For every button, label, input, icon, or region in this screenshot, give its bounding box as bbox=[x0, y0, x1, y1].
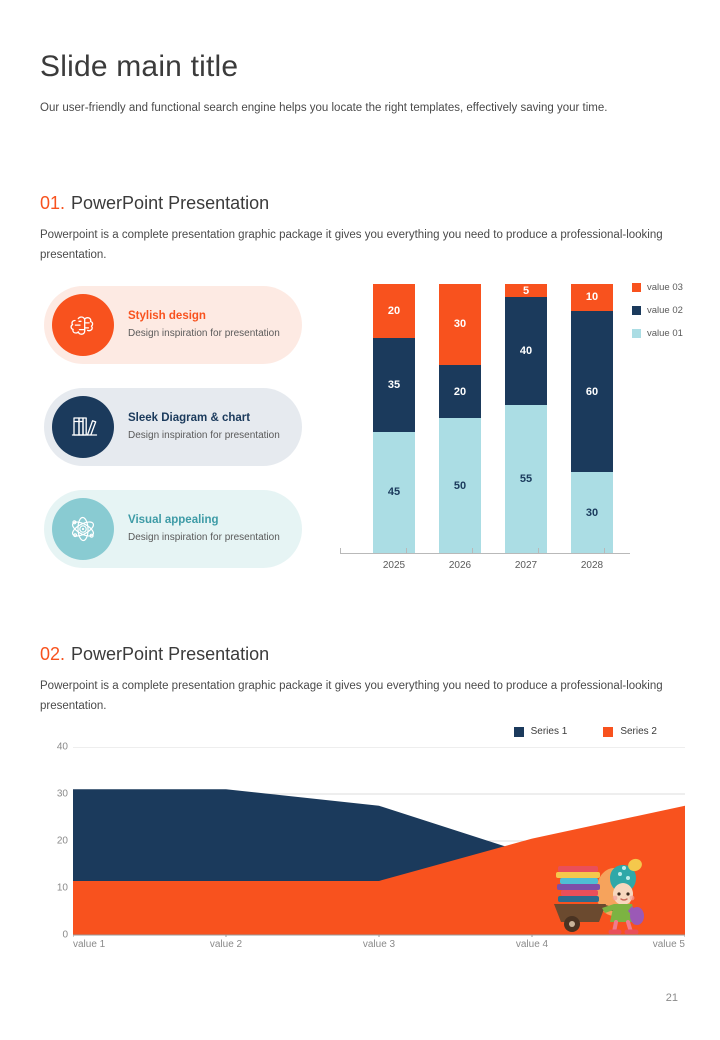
legend-item-series-2[interactable]: Series 2 bbox=[603, 726, 657, 737]
legend-label: Series 1 bbox=[531, 726, 568, 737]
bar-x-axis-line bbox=[340, 553, 630, 554]
feature-card-subtitle: Design inspiration for presentation bbox=[128, 327, 280, 342]
stacked-bar-chart: 20354530205054055106030 2025202620272028… bbox=[332, 276, 688, 576]
bar-segment-value-02: 40 bbox=[505, 297, 547, 405]
feature-card-visual-appealing[interactable]: Visual appealing Design inspiration for … bbox=[44, 490, 302, 568]
bar-segment-value-01: 30 bbox=[571, 472, 613, 553]
legend-item-series-1[interactable]: Series 1 bbox=[514, 726, 568, 737]
bar-segment-value-01: 55 bbox=[505, 405, 547, 553]
legend-swatch-icon bbox=[632, 306, 641, 315]
bar-segment-value-03: 20 bbox=[373, 284, 415, 338]
feature-card-text: Sleek Diagram & chart Design inspiration… bbox=[128, 411, 288, 443]
bar-segment-value-03: 10 bbox=[571, 284, 613, 311]
section-description-01: Powerpoint is a complete presentation gr… bbox=[40, 225, 680, 265]
area-x-label-value-2: value 2 bbox=[210, 939, 242, 950]
bar-x-label-2027: 2027 bbox=[505, 560, 547, 571]
legend-swatch-icon bbox=[514, 727, 524, 737]
girl-with-books-illustration bbox=[528, 844, 648, 934]
feature-card-stylish-design[interactable]: Stylish design Design inspiration for pr… bbox=[44, 286, 302, 364]
section-title-02: PowerPoint Presentation bbox=[71, 644, 269, 665]
legend-swatch-icon bbox=[632, 283, 641, 292]
bar-axis-tick bbox=[472, 548, 473, 554]
area-x-label-value-5: value 5 bbox=[653, 939, 685, 950]
area-x-label-value-1: value 1 bbox=[73, 939, 105, 950]
bar-x-axis-labels: 2025202620272028 bbox=[350, 560, 620, 580]
area-x-axis-labels: value 1value 2value 3value 4value 5 bbox=[73, 939, 685, 957]
feature-card-sleek-diagram-chart[interactable]: Sleek Diagram & chart Design inspiration… bbox=[44, 388, 302, 466]
bar-segment-value-03: 5 bbox=[505, 284, 547, 297]
bar-axis-tick bbox=[538, 548, 539, 554]
page-number: 21 bbox=[666, 992, 678, 1004]
legend-item-value-02[interactable]: value 02 bbox=[632, 305, 683, 316]
legend-swatch-icon bbox=[632, 329, 641, 338]
bar-x-label-2025: 2025 bbox=[373, 560, 415, 571]
feature-card-title: Stylish design bbox=[128, 309, 280, 324]
legend-swatch-icon bbox=[603, 727, 613, 737]
bar-plot-area: 20354530205054055106030 bbox=[350, 284, 620, 553]
brain-icon bbox=[52, 294, 114, 356]
area-chart-legend: Series 1Series 2 bbox=[514, 726, 657, 737]
area-chart: Series 1Series 2 010203040 value 1value … bbox=[40, 726, 685, 966]
section-title-01: PowerPoint Presentation bbox=[71, 193, 269, 214]
bar-segment-value-02: 35 bbox=[373, 338, 415, 432]
area-plot-area bbox=[73, 747, 685, 935]
bar-axis-tick bbox=[406, 548, 407, 554]
legend-label: value 03 bbox=[647, 282, 683, 293]
bar-segment-value-02: 20 bbox=[439, 365, 481, 419]
y-tick-label-40: 40 bbox=[57, 742, 68, 753]
bar-segment-value-03: 30 bbox=[439, 284, 481, 365]
section-number-02: 02. bbox=[40, 644, 65, 665]
legend-label: Series 2 bbox=[620, 726, 657, 737]
feature-card-text: Stylish design Design inspiration for pr… bbox=[128, 309, 288, 341]
bar-x-label-2026: 2026 bbox=[439, 560, 481, 571]
y-tick-label-10: 10 bbox=[57, 883, 68, 894]
legend-item-value-03[interactable]: value 03 bbox=[632, 282, 683, 293]
bar-segment-value-02: 60 bbox=[571, 311, 613, 472]
legend-label: value 01 bbox=[647, 328, 683, 339]
y-tick-label-0: 0 bbox=[62, 930, 68, 941]
feature-card-title: Sleek Diagram & chart bbox=[128, 411, 280, 426]
feature-card-list: Stylish design Design inspiration for pr… bbox=[44, 286, 302, 592]
section-number-01: 01. bbox=[40, 193, 65, 214]
bar-chart-legend: value 03value 02value 01 bbox=[632, 282, 683, 351]
bar-axis-tick bbox=[340, 548, 341, 554]
bar-segment-value-01: 45 bbox=[373, 432, 415, 553]
section-heading-01: 01. PowerPoint Presentation bbox=[40, 193, 269, 214]
feature-card-subtitle: Design inspiration for presentation bbox=[128, 429, 280, 444]
area-y-axis-labels: 010203040 bbox=[40, 747, 68, 935]
area-x-label-value-4: value 4 bbox=[516, 939, 548, 950]
books-icon bbox=[52, 396, 114, 458]
atom-icon bbox=[52, 498, 114, 560]
bar-2025[interactable]: 203545 bbox=[373, 284, 415, 553]
bar-segment-value-01: 50 bbox=[439, 418, 481, 553]
bar-2028[interactable]: 106030 bbox=[571, 284, 613, 553]
section-description-02: Powerpoint is a complete presentation gr… bbox=[40, 676, 680, 716]
bar-axis-tick bbox=[604, 548, 605, 554]
area-x-label-value-3: value 3 bbox=[363, 939, 395, 950]
page-subtitle: Our user-friendly and functional search … bbox=[40, 98, 680, 118]
legend-label: value 02 bbox=[647, 305, 683, 316]
legend-item-value-01[interactable]: value 01 bbox=[632, 328, 683, 339]
feature-card-subtitle: Design inspiration for presentation bbox=[128, 531, 280, 546]
page-title: Slide main title bbox=[40, 50, 238, 83]
section-heading-02: 02. PowerPoint Presentation bbox=[40, 644, 269, 665]
bar-2027[interactable]: 54055 bbox=[505, 284, 547, 553]
feature-card-title: Visual appealing bbox=[128, 513, 280, 528]
y-tick-label-30: 30 bbox=[57, 789, 68, 800]
slide: Slide main title Our user-friendly and f… bbox=[0, 0, 720, 1040]
feature-card-text: Visual appealing Design inspiration for … bbox=[128, 513, 288, 545]
y-tick-label-20: 20 bbox=[57, 836, 68, 847]
bar-x-label-2028: 2028 bbox=[571, 560, 613, 571]
bar-2026[interactable]: 302050 bbox=[439, 284, 481, 553]
